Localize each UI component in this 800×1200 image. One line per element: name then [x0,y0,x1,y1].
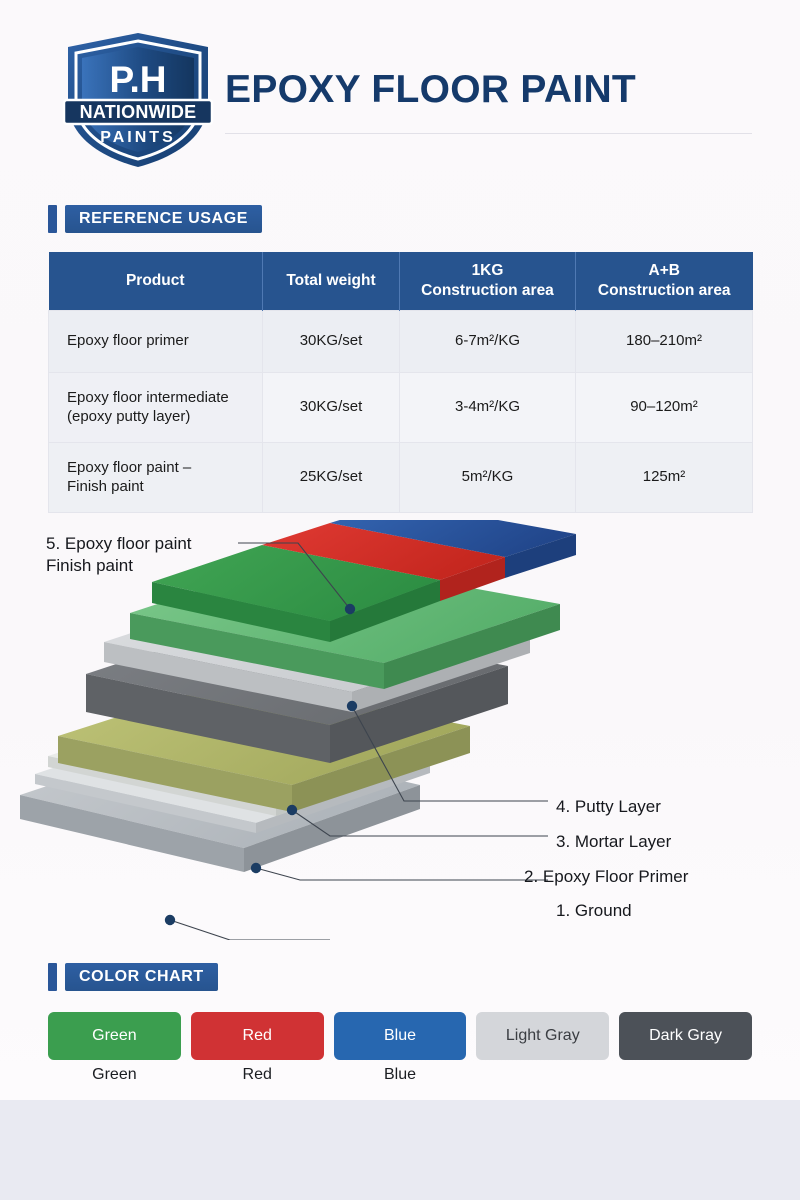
swatch-label: Dark Gray [649,1027,722,1045]
header: P.H NATIONWIDE PAINTS EPOXY FLOOR PAINT [0,0,800,175]
color-swatch-light-gray[interactable]: Light Gray [476,1012,609,1060]
header-cell-line1: Total weight [286,272,375,289]
section-heading-reference-usage: REFERENCE USAGE [48,205,262,233]
color-swatch-dark-gray[interactable]: Dark Gray [619,1012,752,1060]
cell-1kg-area: 6-7m²/KG [400,310,576,372]
brand-logo: P.H NATIONWIDE PAINTS [58,30,218,170]
leader-dot-ground [165,915,175,925]
leader-dot-mortar [287,805,297,815]
section-heading-label: REFERENCE USAGE [65,205,262,233]
page-outer-background [0,1100,800,1200]
leader-dot-primer [251,863,261,873]
diagram-label-putty: 4. Putty Layer [556,796,661,818]
cell-1kg-area: 3-4m²/KG [400,372,576,442]
cell-ab-area: 180–210m² [576,310,753,372]
cell-product: Epoxy floor intermediate (epoxy putty la… [49,372,263,442]
swatch-label: Red [243,1027,272,1045]
cell-ab-area: 125m² [576,442,753,512]
swatch-caption-light-gray [476,1066,609,1092]
header-cell-line2: Construction area [421,282,554,299]
header-divider [225,133,752,134]
section-accent-bar [48,205,57,233]
section-heading-color-chart: COLOR CHART [48,963,218,991]
diagram-label-primer: 2. Epoxy Floor Primer [524,866,688,888]
swatch-label: Light Gray [506,1027,580,1045]
reference-usage-table: Product Total weight 1KG Construction ar… [48,252,753,513]
shield-logo-icon: P.H NATIONWIDE PAINTS [58,30,218,170]
table-header-1kg-area: 1KG Construction area [400,252,576,310]
table-header-row: Product Total weight 1KG Construction ar… [49,252,753,310]
cell-total-weight: 30KG/set [263,310,400,372]
swatch-caption-green: Green [48,1066,181,1092]
leader-dot-finish [345,604,355,614]
diagram-label-mortar: 3. Mortar Layer [556,831,671,853]
color-swatch-blue[interactable]: Blue [334,1012,467,1060]
swatch-label: Green [92,1027,136,1045]
diagram-label-finish-paint: 5. Epoxy floor paint Finish paint [46,533,192,577]
swatch-caption-dark-gray [619,1066,752,1092]
header-cell-line1: Product [126,272,185,289]
table-row: Epoxy floor intermediate (epoxy putty la… [49,372,753,442]
svg-text:P.H: P.H [110,59,167,100]
color-swatch-red[interactable]: Red [191,1012,324,1060]
header-cell-line1: A+B [649,262,680,279]
cell-product: Epoxy floor primer [49,310,263,372]
cell-total-weight: 30KG/set [263,372,400,442]
color-swatch-green[interactable]: Green [48,1012,181,1060]
diagram-label-ground: 1. Ground [556,900,632,922]
table-row: Epoxy floor primer 30KG/set 6-7m²/KG 180… [49,310,753,372]
section-heading-label: COLOR CHART [65,963,218,991]
swatch-caption-red: Red [191,1066,324,1092]
header-cell-line2: Construction area [598,282,731,299]
table-header-total-weight: Total weight [263,252,400,310]
swatch-label: Blue [384,1027,416,1045]
header-cell-line1: 1KG [472,262,504,279]
poster-card: P.H NATIONWIDE PAINTS EPOXY FLOOR PAINT … [0,0,800,1100]
cell-ab-area: 90–120m² [576,372,753,442]
cell-product: Epoxy floor paint – Finish paint [49,442,263,512]
cell-total-weight: 25KG/set [263,442,400,512]
leader-dot-putty [347,701,357,711]
swatch-caption-blue: Blue [334,1066,467,1092]
table-row: Epoxy floor paint – Finish paint 25KG/se… [49,442,753,512]
color-caption-row: Green Red Blue [48,1066,752,1092]
color-swatch-row: Green Red Blue Light Gray Dark Gray [48,1012,752,1060]
section-accent-bar [48,963,57,991]
svg-text:PAINTS: PAINTS [100,129,175,146]
page-title: EPOXY FLOOR PAINT [225,68,636,112]
svg-text:NATIONWIDE: NATIONWIDE [80,102,197,122]
cell-1kg-area: 5m²/KG [400,442,576,512]
table-header-product: Product [49,252,263,310]
table-header-ab-area: A+B Construction area [576,252,753,310]
